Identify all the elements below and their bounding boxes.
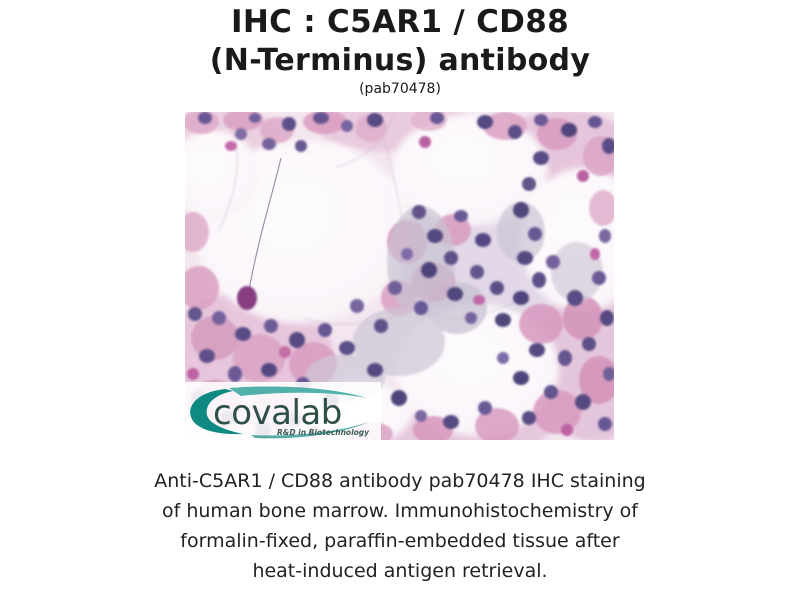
covalab-logo: covalab R&D in Biotechnology: [185, 382, 381, 440]
logo-wordmark: covalab: [213, 393, 342, 433]
caption-line-2: of human bone marrow. Immunohistochemist…: [96, 496, 704, 526]
logo-tagline: R&D in Biotechnology: [277, 428, 370, 437]
caption-line-3: formalin-fixed, paraffin-embedded tissue…: [96, 526, 704, 556]
ihc-micrograph: covalab R&D in Biotechnology: [185, 112, 614, 440]
caption-line-4: heat-induced antigen retrieval.: [96, 556, 704, 586]
caption-line-1: Anti-C5AR1 / CD88 antibody pab70478 IHC …: [96, 466, 704, 496]
figure-caption: Anti-C5AR1 / CD88 antibody pab70478 IHC …: [96, 466, 704, 586]
title-line-primary: IHC : C5AR1 / CD88: [0, 2, 800, 42]
page-title: IHC : C5AR1 / CD88 (N-Terminus) antibody…: [0, 2, 800, 97]
catalog-number: (pab70478): [0, 81, 800, 97]
covalab-logo-graphic: covalab R&D in Biotechnology: [185, 382, 381, 440]
title-line-secondary: (N-Terminus) antibody: [0, 42, 800, 80]
